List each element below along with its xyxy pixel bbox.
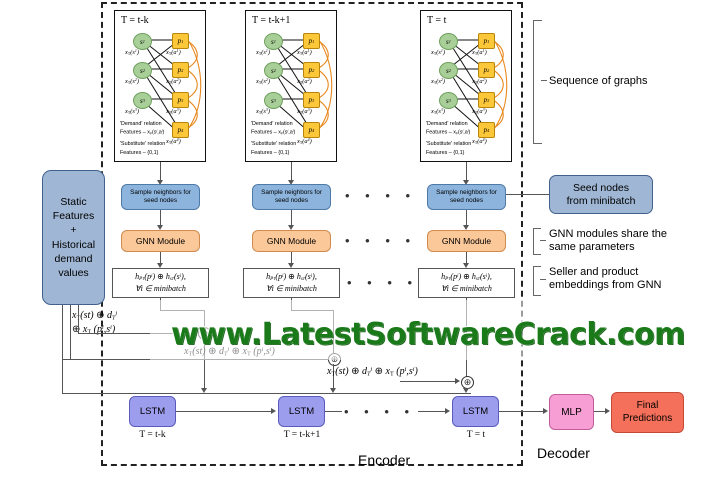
graph-1-legend-demand-feat: Features – xF(si,ai): [120, 129, 164, 136]
annotation-gnn-share: GNN modules share the same parameters: [549, 228, 667, 255]
watermark-text: www.LatestSoftwareCrack.com: [171, 317, 685, 352]
brace-sequence-of-graphs: [533, 20, 542, 144]
mlp-box[interactable]: MLP: [549, 394, 594, 430]
lstm-label: LSTM: [289, 406, 314, 417]
graph-1-legend-demand: 'Demand' relation: [120, 121, 162, 128]
product-3-feature: xT(a3): [472, 107, 487, 115]
graph-3-legend-substitute-feat: Features – {0,1}: [426, 150, 464, 157]
gnn-label: GNN Module: [442, 236, 491, 246]
embedding-formula-line2: ∀i ∈ minibatch: [135, 284, 186, 295]
seller-3-feature: xT(s3): [431, 107, 445, 115]
product-1-feature: xT(a1): [166, 48, 181, 56]
connector-graph1-sample: [160, 162, 161, 182]
lstm-label: LSTM: [463, 406, 488, 417]
diagram-canvas: T = t-k s1 s2 s3 xT(s1): [0, 0, 720, 480]
graph-1-legend-substitute: 'Substitute' relation: [120, 141, 165, 148]
final-label-line1: Final: [637, 400, 659, 413]
brace-nub-embeddings: [540, 279, 546, 280]
annotation-sequence-of-graphs: Sequence of graphs: [549, 75, 647, 88]
annotation-embeddings: Seller and product embeddings from GNN: [549, 266, 662, 293]
sample-label-line1: Sample neighbors for: [130, 189, 191, 197]
embeddings-line2: embeddings from GNN: [549, 279, 662, 291]
ellipsis-lstm-row: • • • •: [344, 404, 415, 419]
gnn-label: GNN Module: [267, 236, 316, 246]
product-node-p2: p2: [478, 62, 495, 78]
connector-lstm2-dots: [325, 411, 342, 412]
product-1-feature: xT(a1): [297, 48, 312, 56]
product-2-feature: xT(a2): [472, 77, 487, 85]
lstm-label: LSTM: [140, 406, 165, 417]
product-3-feature: xT(a3): [166, 107, 181, 115]
graph-3-legend-demand-feat: Features – xF(si,ai): [426, 129, 470, 136]
product-node-p2: p2: [303, 62, 320, 78]
sample-label-line2: seed nodes: [275, 197, 308, 205]
embedding-formula-line1: hPT(pi) ⊕ hsT(si),: [441, 272, 492, 284]
connector-lstm3-mlp: [499, 411, 544, 412]
static-line-2: Features: [53, 209, 94, 223]
ellipsis-gnn-row: • • • •: [345, 233, 416, 248]
graph-3-legend-demand: 'Demand' relation: [426, 121, 468, 128]
sample-label-line2: seed nodes: [450, 197, 483, 205]
embedding-formula-line1: hPT(pi) ⊕ hsT(si),: [135, 272, 186, 284]
embeddings-line1: Seller and product: [549, 266, 638, 278]
sample-neighbors-box-3[interactable]: Sample neighbors for seed nodes: [427, 184, 506, 210]
seller-1-feature: xT(s1): [256, 48, 270, 56]
lstm-1-time-label: T = t-k: [121, 430, 184, 440]
ellipsis-sample-row: • • • •: [345, 188, 416, 203]
seed-nodes-annotation-box[interactable]: Seed nodes from minibatch: [549, 175, 653, 214]
product-node-p4: p4: [478, 122, 495, 138]
static-line-5: demand: [55, 252, 93, 266]
connector-dots-lstm3: [418, 411, 446, 412]
static-features-panel[interactable]: Static Features + Historical demand valu…: [42, 170, 105, 305]
embedding-formula-line2: ∀i ∈ minibatch: [441, 284, 492, 295]
seller-2-feature: xT(s2): [256, 77, 270, 85]
brace-embeddings: [533, 266, 541, 296]
product-node-p3: p3: [478, 92, 495, 108]
gnn-module-box-3[interactable]: GNN Module: [427, 230, 506, 252]
product-node-p4: p4: [172, 122, 189, 138]
seller-1-feature: xT(s1): [431, 48, 445, 56]
ellipsis-embedding-row: • • • •: [347, 275, 418, 290]
final-label-line2: Predictions: [623, 413, 672, 426]
product-3-feature: xT(a3): [297, 107, 312, 115]
arrowhead-lstm1-lstm2: [271, 408, 276, 414]
graph-2-legend-demand: 'Demand' relation: [251, 121, 293, 128]
sample-label-line1: Sample neighbors for: [261, 189, 322, 197]
gnn-label: GNN Module: [136, 236, 185, 246]
product-node-p1: p1: [478, 33, 495, 49]
sample-label-line1: Sample neighbors for: [436, 189, 497, 197]
gnn-module-box-2[interactable]: GNN Module: [252, 230, 331, 252]
lstm-2-time-label: T = t-k+1: [268, 430, 336, 440]
static-to-oplus3-h: [62, 393, 471, 394]
product-node-p2: p2: [172, 62, 189, 78]
graph-2-legend-substitute-feat: Features – {0,1}: [251, 150, 289, 157]
static-line-1: Static: [60, 195, 86, 209]
embedding-box-1: hPT(pi) ⊕ hsT(si), ∀i ∈ minibatch: [112, 268, 209, 298]
connector-seed-annotation: [506, 194, 550, 195]
seller-2-feature: xT(s2): [125, 77, 139, 85]
brace-gnn-share: [533, 228, 541, 255]
product-4-feature: xT(a4): [472, 137, 487, 145]
seed-line1: Seed nodes: [573, 182, 629, 195]
seed-line2: from minibatch: [567, 195, 636, 208]
arrowhead-formula3-oplus3: [455, 378, 460, 384]
lstm-3-time-label: T = t: [446, 430, 506, 440]
static-out-line-b: [70, 305, 71, 359]
static-line-6: values: [58, 266, 88, 280]
seller-2-feature: xT(s2): [431, 77, 445, 85]
arrowhead-lstm3-mlp: [543, 408, 548, 414]
connector-graph3-sample: [466, 162, 467, 182]
seller-3-feature: xT(s3): [256, 107, 270, 115]
embedding-box-2: hPT(pi) ⊕ hsT(si), ∀i ∈ minibatch: [243, 268, 340, 298]
seller-1-feature: xT(s1): [125, 48, 139, 56]
graph-3-legend-substitute: 'Substitute' relation: [426, 141, 471, 148]
product-node-p4: p4: [303, 122, 320, 138]
product-node-p3: p3: [303, 92, 320, 108]
graph-panel-1: T = t-k s1 s2 s3 xT(s1): [114, 10, 206, 162]
final-predictions-box[interactable]: Final Predictions: [611, 392, 684, 433]
embedding-formula-line1: hPT(pi) ⊕ hsT(si),: [266, 272, 317, 284]
static-out-line-c: [78, 305, 79, 333]
gnn-module-box-1[interactable]: GNN Module: [121, 230, 200, 252]
graph-2-legend-substitute: 'Substitute' relation: [251, 141, 296, 148]
embedding-formula-line2: ∀i ∈ minibatch: [266, 284, 317, 295]
static-line-4: Historical: [52, 238, 95, 252]
lstm-box-1[interactable]: LSTM: [129, 396, 176, 427]
graph-panel-3: T = t s1 s2 s3 xT(s1) x: [420, 10, 512, 162]
connector-lstm1-lstm2: [176, 411, 272, 412]
static-out-line-a: [62, 305, 63, 393]
concat-formula-right: xT(st) ⊕ dTi ⊕ xT (pi,si): [327, 366, 418, 378]
lstm-box-3[interactable]: LSTM: [452, 396, 499, 427]
product-node-p1: p1: [303, 33, 320, 49]
product-1-feature: xT(a1): [472, 48, 487, 56]
gnn-share-line2: same parameters: [549, 241, 635, 253]
encoder-label: Encoder: [358, 452, 410, 468]
product-2-feature: xT(a2): [297, 77, 312, 85]
graph-2-legend-demand-feat: Features – xF(si,ai): [251, 129, 295, 136]
arrowhead-mlp-final: [605, 408, 610, 414]
formula3-to-oplus3: [400, 381, 458, 382]
arrowhead-oplus3-lstm3: [463, 388, 469, 393]
graph-1-legend-substitute-feat: Features – {0,1}: [120, 150, 158, 157]
product-node-p3: p3: [172, 92, 189, 108]
sample-neighbors-box-1[interactable]: Sample neighbors for seed nodes: [121, 184, 200, 210]
sample-neighbors-box-2[interactable]: Sample neighbors for seed nodes: [252, 184, 331, 210]
gnn-share-line1: GNN modules share the: [549, 228, 667, 240]
static-line-3: +: [70, 223, 76, 237]
product-node-p1: p1: [172, 33, 189, 49]
sample-label-line2: seed nodes: [144, 197, 177, 205]
embedding-box-3: hPT(pi) ⊕ hsT(si), ∀i ∈ minibatch: [418, 268, 515, 298]
seller-3-feature: xT(s3): [125, 107, 139, 115]
product-4-feature: xT(a4): [166, 137, 181, 145]
product-2-feature: xT(a2): [166, 77, 181, 85]
lstm-box-2[interactable]: LSTM: [278, 396, 325, 427]
brace-nub-sequence: [541, 80, 547, 81]
mlp-label: MLP: [561, 407, 582, 418]
decoder-label: Decoder: [537, 445, 590, 461]
product-4-feature: xT(a4): [297, 137, 312, 145]
graph-panel-2: T = t-k+1 s1 s2 s3 xT(s1): [245, 10, 337, 162]
connector-graph2-sample: [291, 162, 292, 182]
arrowhead-dots-lstm3: [445, 408, 450, 414]
brace-nub-gnn-share: [540, 240, 546, 241]
